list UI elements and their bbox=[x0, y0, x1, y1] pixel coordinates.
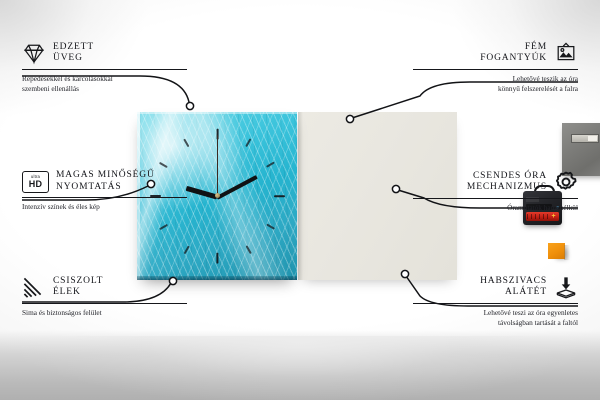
gear-icon bbox=[554, 170, 578, 194]
ultra-hd-big-label: HD bbox=[29, 179, 43, 189]
feature-high-quality-print: ultra HD MAGAS MINŐSÉGŰ NYOMTATÁS Intenz… bbox=[22, 170, 187, 212]
feature-foam-underlay: HABSZIVACS ALÁTÉT Lehetővé teszi az óra … bbox=[413, 275, 578, 327]
feature-head: CSISZOLT ÉLEK bbox=[22, 275, 187, 299]
connector-dot-silent-mechanism bbox=[392, 185, 399, 192]
feature-divider bbox=[413, 198, 578, 199]
foam-pad-icon bbox=[554, 275, 578, 299]
feature-subtitle-line1: Lehetővé teszik az óra bbox=[413, 74, 578, 84]
feature-divider bbox=[22, 69, 187, 70]
feature-subtitle-line1: Lehetővé teszi az óra egyenletes bbox=[413, 308, 578, 318]
feature-divider bbox=[413, 69, 578, 70]
feature-subtitle-line1: Repedésekkel és karcolásokkal bbox=[22, 74, 187, 84]
diamond-icon bbox=[22, 41, 46, 65]
connector-dot-foam-underlay bbox=[401, 270, 408, 277]
feature-title: EDZETT ÜVEG bbox=[53, 42, 94, 65]
feature-polished-edges: CSISZOLT ÉLEK Sima és biztonságos felüle… bbox=[22, 275, 187, 318]
feature-subtitle-line1: Sima és biztonságos felület bbox=[22, 308, 187, 318]
feature-head: EDZETT ÜVEG bbox=[22, 41, 187, 65]
feature-subtitle-line2: szembeni ellenállás bbox=[22, 84, 187, 94]
feature-silent-mechanism: CSENDES ÓRA MECHANIZMUS Óramutatók hang … bbox=[413, 170, 578, 213]
feature-metal-handles: FÉM FOGANTYÚK Lehetővé teszik az óra kön… bbox=[413, 41, 578, 93]
feature-subtitle-line1: Óramutatók hang nélkül bbox=[413, 203, 578, 213]
feature-divider bbox=[413, 303, 578, 304]
feature-title: FÉM FOGANTYÚK bbox=[480, 42, 547, 65]
feature-title: HABSZIVACS ALÁTÉT bbox=[480, 276, 547, 299]
feature-head: FÉM FOGANTYÚK bbox=[413, 41, 578, 65]
feature-tempered-glass: EDZETT ÜVEG Repedésekkel és karcolásokka… bbox=[22, 41, 187, 93]
feature-head: HABSZIVACS ALÁTÉT bbox=[413, 275, 578, 299]
connector-dot-tempered-glass bbox=[186, 102, 193, 109]
polished-edges-icon bbox=[22, 275, 46, 299]
feature-title: CSENDES ÓRA MECHANIZMUS bbox=[467, 171, 547, 194]
infographic-canvas: + bbox=[0, 0, 600, 400]
wall-hanger-icon bbox=[554, 41, 578, 65]
feature-divider bbox=[22, 197, 187, 198]
feature-title: MAGAS MINŐSÉGŰ NYOMTATÁS bbox=[56, 170, 155, 193]
feature-title: CSISZOLT ÉLEK bbox=[53, 276, 103, 299]
feature-subtitle-line2: könnyű felszerelését a falra bbox=[413, 84, 578, 94]
feature-head: ultra HD MAGAS MINŐSÉGŰ NYOMTATÁS bbox=[22, 170, 187, 193]
ultra-hd-icon: ultra HD bbox=[22, 171, 49, 193]
ultra-hd-small-label: ultra bbox=[31, 174, 40, 179]
feature-divider bbox=[22, 303, 187, 304]
feature-subtitle-line1: Intenzív színek és éles kép bbox=[22, 202, 187, 212]
feature-subtitle-line2: távolságban tartását a faltól bbox=[413, 318, 578, 328]
feature-head: CSENDES ÓRA MECHANIZMUS bbox=[413, 170, 578, 194]
connector-dot-metal-handles bbox=[346, 115, 353, 122]
